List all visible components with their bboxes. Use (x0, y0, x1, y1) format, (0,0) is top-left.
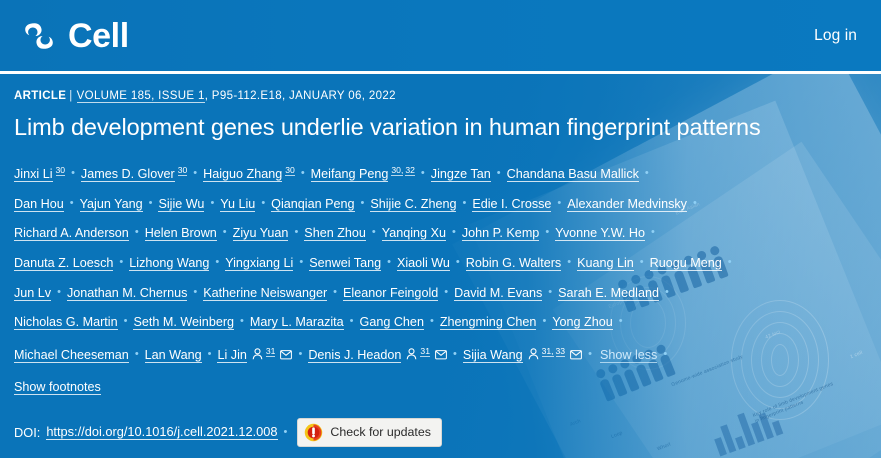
author-entry: Yu Liu (220, 197, 255, 212)
cell-link-logo-icon (22, 19, 56, 53)
separator-dot: • (124, 307, 128, 336)
author-name-link[interactable]: Alexander Medvinsky (567, 197, 687, 212)
separator-dot: • (462, 189, 466, 218)
show-less-link[interactable]: Show less (600, 348, 657, 363)
author-row: Jun Lv•Jonathan M. Chernus•Katherine Nei… (14, 278, 881, 308)
separator-dot: • (298, 340, 302, 369)
author-list: Jinxi Li30•James D. Glover30•Haiguo Zhan… (14, 156, 881, 371)
separator-dot: • (640, 248, 644, 277)
author-name-link[interactable]: Edie I. Crosse (472, 197, 551, 212)
separator-dot: • (619, 307, 623, 336)
author-entry: Michael Cheeseman (14, 348, 129, 363)
author-entry: Yanqing Xu (382, 226, 446, 241)
author-affiliation-sup[interactable]: 32 (405, 165, 415, 176)
author-row: Dan Hou•Yajun Yang•Sijie Wu•Yu Liu•Qianq… (14, 189, 881, 219)
author-entry: Helen Brown (145, 226, 217, 241)
separator-dot: • (57, 278, 61, 307)
author-entry: Sarah E. Medland (558, 286, 659, 301)
author-name-link[interactable]: David M. Evans (454, 286, 542, 301)
person-icon[interactable] (252, 342, 263, 371)
separator-dot: • (135, 218, 139, 247)
author-name-link[interactable]: Helen Brown (145, 226, 217, 241)
author-entry: Yvonne Y.W. Ho (555, 226, 645, 241)
author-entry: Denis J. Headon31 (308, 348, 447, 362)
author-entry: Lan Wang (145, 348, 202, 363)
author-name-link[interactable]: Robin G. Walters (466, 256, 561, 271)
separator-dot: • (223, 218, 227, 247)
author-entry: Katherine Neiswanger (203, 286, 327, 301)
author-entry: Yong Zhou (552, 315, 612, 330)
separator-dot: • (430, 307, 434, 336)
doi-label: DOI: (14, 425, 40, 440)
author-affiliation-sup[interactable]: 31, (542, 346, 554, 357)
author-entry: Jinxi Li30 (14, 167, 65, 181)
separator-dot: • (452, 218, 456, 247)
author-name-link[interactable]: Yajun Yang (80, 197, 143, 212)
author-name-link[interactable]: Jinxi Li (14, 167, 53, 182)
separator-dot: • (663, 340, 667, 369)
separator-dot: • (350, 307, 354, 336)
article-type: ARTICLE (14, 90, 66, 102)
author-name-link[interactable]: Yong Zhou (552, 315, 612, 330)
page-title: Limb development genes underlie variatio… (14, 112, 881, 142)
separator-dot: • (444, 278, 448, 307)
author-name-link[interactable]: Shijie C. Zheng (370, 197, 456, 212)
separator-dot: • (119, 248, 123, 277)
author-affiliation-sup[interactable]: 31 (266, 346, 276, 357)
author-entry: Richard A. Anderson (14, 226, 129, 241)
author-entry: John P. Kemp (462, 226, 539, 241)
author-affiliation-sup[interactable]: 30, (391, 165, 403, 176)
author-entry: Lizhong Wang (129, 256, 209, 271)
doi-link[interactable]: https://doi.org/10.1016/j.cell.2021.12.0… (46, 424, 277, 440)
author-name-link[interactable]: Ruogu Meng (650, 256, 722, 271)
separator-dot: • (728, 248, 732, 277)
author-entry: Meifang Peng30,32 (311, 167, 415, 181)
author-row: Danuta Z. Loesch•Lizhong Wang•Yingxiang … (14, 248, 881, 278)
author-affiliation-sup[interactable]: 33 (556, 346, 566, 357)
check-for-updates-button[interactable]: Check for updates (297, 418, 442, 447)
author-entry: Jun Lv (14, 286, 51, 301)
show-footnotes-link[interactable]: Show footnotes (14, 380, 101, 395)
author-name-link[interactable]: Yvonne Y.W. Ho (555, 226, 645, 241)
author-name-link[interactable]: John P. Kemp (462, 226, 539, 241)
separator-dot: • (208, 340, 212, 369)
separator-dot: • (567, 248, 571, 277)
author-name-link[interactable]: Sijie Wu (158, 197, 204, 212)
author-name-link[interactable]: Denis J. Headon (308, 348, 401, 363)
author-name-link[interactable]: Kuang Lin (577, 256, 634, 271)
author-name-link[interactable]: Lan Wang (145, 348, 202, 363)
author-row: Jinxi Li30•James D. Glover30•Haiguo Zhan… (14, 156, 881, 189)
separator-dot: • (299, 248, 303, 277)
author-name-link[interactable]: Qianqian Peng (271, 197, 354, 212)
brand-logo[interactable]: Cell (22, 19, 129, 53)
author-entry: Li Jin31 (217, 348, 292, 362)
author-name-link[interactable]: Jun Lv (14, 286, 51, 301)
author-name-link[interactable]: Lizhong Wang (129, 256, 209, 271)
separator-dot: • (294, 218, 298, 247)
author-name-link[interactable]: Xiaoli Wu (397, 256, 450, 271)
author-entry: Gang Chen (360, 315, 424, 330)
author-name-link[interactable]: Mary L. Marazita (250, 315, 344, 330)
separator-dot: • (240, 307, 244, 336)
volume-issue-link[interactable]: VOLUME 185, ISSUE 1 (77, 90, 205, 103)
separator-dot: • (71, 159, 75, 188)
separator-dot: • (497, 159, 501, 188)
author-entry: Kuang Lin (577, 256, 634, 271)
separator-dot: • (545, 218, 549, 247)
author-entry: Sijie Wu (158, 197, 204, 212)
login-button[interactable]: Log in (814, 27, 857, 45)
separator-dot: • (301, 159, 305, 188)
author-entry: Robin G. Walters (466, 256, 561, 271)
envelope-icon[interactable] (570, 342, 582, 371)
pages-date: , P95-112.E18, JANUARY 06, 2022 (205, 90, 396, 102)
separator-dot: • (215, 248, 219, 277)
author-name-link[interactable]: Shen Zhou (304, 226, 366, 241)
separator-dot: • (361, 189, 365, 218)
author-entry: Alexander Medvinsky (567, 197, 687, 212)
separator-dot: • (135, 340, 139, 369)
separator-dot: • (693, 189, 697, 218)
author-name-link[interactable]: Seth M. Weinberg (133, 315, 234, 330)
author-affiliation-sup[interactable]: 31 (420, 346, 430, 357)
author-name-link[interactable]: Sarah E. Medland (558, 286, 659, 301)
author-name-link[interactable]: Nicholas G. Martin (14, 315, 118, 330)
author-name-link[interactable]: Yanqing Xu (382, 226, 446, 241)
envelope-icon[interactable] (280, 342, 292, 371)
separator-dot: • (193, 278, 197, 307)
author-name-link[interactable]: Katherine Neiswanger (203, 286, 327, 301)
separator-dot: • (261, 189, 265, 218)
author-name-link[interactable]: Gang Chen (360, 315, 424, 330)
author-name-link[interactable]: Li Jin (217, 348, 246, 363)
separator-dot: • (193, 159, 197, 188)
envelope-icon[interactable] (435, 342, 447, 371)
author-entry: Sijia Wang31,33 (463, 348, 582, 362)
author-entry: Yajun Yang (80, 197, 143, 212)
author-entry: David M. Evans (454, 286, 542, 301)
separator-dot: • (588, 340, 592, 369)
separator-dot: • (557, 189, 561, 218)
author-entry: Seth M. Weinberg (133, 315, 234, 330)
author-entry: Chandana Basu Mallick (507, 167, 639, 182)
author-entry: Eleanor Feingold (343, 286, 438, 301)
author-entry: Ziyu Yuan (233, 226, 289, 241)
author-name-link[interactable]: Yu Liu (220, 197, 255, 212)
separator-dot: • (372, 218, 376, 247)
author-entry: Nicholas G. Martin (14, 315, 118, 330)
author-entry: Haiguo Zhang30 (203, 167, 295, 181)
author-name-link[interactable]: Dan Hou (14, 197, 64, 212)
author-entry: Jingze Tan (431, 167, 491, 182)
separator-dot: • (284, 426, 288, 438)
author-entry: James D. Glover30 (81, 167, 187, 181)
author-name-link[interactable]: Michael Cheeseman (14, 348, 129, 363)
separator-dot: • (651, 218, 655, 247)
author-name-link[interactable]: Jingze Tan (431, 167, 491, 182)
separator-dot: • (665, 278, 669, 307)
author-row: Michael Cheeseman•Lan Wang•Li Jin31•Deni… (14, 337, 881, 371)
header-divider (0, 71, 881, 74)
separator-dot: • (333, 278, 337, 307)
author-entry: Xiaoli Wu (397, 256, 450, 271)
author-affiliation-sup[interactable]: 30 (56, 165, 66, 176)
author-name-link[interactable]: Meifang Peng (311, 167, 389, 182)
author-entry: Ruogu Meng (650, 256, 722, 271)
author-name-link[interactable]: Senwei Tang (309, 256, 381, 271)
author-name-link[interactable]: Danuta Z. Loesch (14, 256, 113, 271)
article-meta: ARTICLE|VOLUME 185, ISSUE 1, P95-112.E18… (14, 90, 881, 102)
author-entry: Shijie C. Zheng (370, 197, 456, 212)
author-entry: Dan Hou (14, 197, 64, 212)
person-icon[interactable] (528, 342, 539, 371)
separator-dot: • (70, 189, 74, 218)
separator-dot: • (453, 340, 457, 369)
author-name-link[interactable]: Haiguo Zhang (203, 167, 282, 182)
author-name-link[interactable]: Eleanor Feingold (343, 286, 438, 301)
author-entry: Edie I. Crosse (472, 197, 551, 212)
author-name-link[interactable]: Sijia Wang (463, 348, 523, 363)
separator-dot: • (645, 159, 649, 188)
separator-dot: • (387, 248, 391, 277)
author-entry: Zhengming Chen (440, 315, 537, 330)
author-name-link[interactable]: Ziyu Yuan (233, 226, 289, 241)
brand-wordmark: Cell (68, 19, 129, 53)
author-entry: Shen Zhou (304, 226, 366, 241)
article-band: ARTICLE|VOLUME 185, ISSUE 1, P95-112.E18… (0, 74, 881, 458)
separator-dot: • (548, 278, 552, 307)
check-for-updates-label: Check for updates (330, 425, 431, 439)
meta-separator: | (69, 90, 72, 102)
author-affiliation-sup[interactable]: 30 (285, 165, 295, 176)
separator-dot: • (456, 248, 460, 277)
author-name-link[interactable]: Richard A. Anderson (14, 226, 129, 241)
author-entry: Mary L. Marazita (250, 315, 344, 330)
author-entry: Qianqian Peng (271, 197, 354, 212)
separator-dot: • (421, 159, 425, 188)
separator-dot: • (149, 189, 153, 218)
author-name-link[interactable]: Chandana Basu Mallick (507, 167, 639, 182)
author-entry: Danuta Z. Loesch (14, 256, 113, 271)
separator-dot: • (542, 307, 546, 336)
article-page: East Asian European Genome-wide associat… (0, 0, 881, 458)
author-row: Nicholas G. Martin•Seth M. Weinberg•Mary… (14, 307, 881, 337)
separator-dot: • (210, 189, 214, 218)
site-header: Cell Log in (0, 0, 881, 71)
person-icon[interactable] (406, 342, 417, 371)
author-entry: Yingxiang Li (225, 256, 293, 271)
doi-row: DOI: https://doi.org/10.1016/j.cell.2021… (14, 418, 881, 447)
author-row: Richard A. Anderson•Helen Brown•Ziyu Yua… (14, 218, 881, 248)
crossmark-badge-icon (304, 423, 323, 442)
author-affiliation-sup[interactable]: 30 (178, 165, 188, 176)
author-name-link[interactable]: James D. Glover (81, 167, 175, 182)
author-name-link[interactable]: Jonathan M. Chernus (67, 286, 187, 301)
author-name-link[interactable]: Yingxiang Li (225, 256, 293, 271)
author-name-link[interactable]: Zhengming Chen (440, 315, 537, 330)
author-entry: Jonathan M. Chernus (67, 286, 187, 301)
author-entry: Senwei Tang (309, 256, 381, 271)
